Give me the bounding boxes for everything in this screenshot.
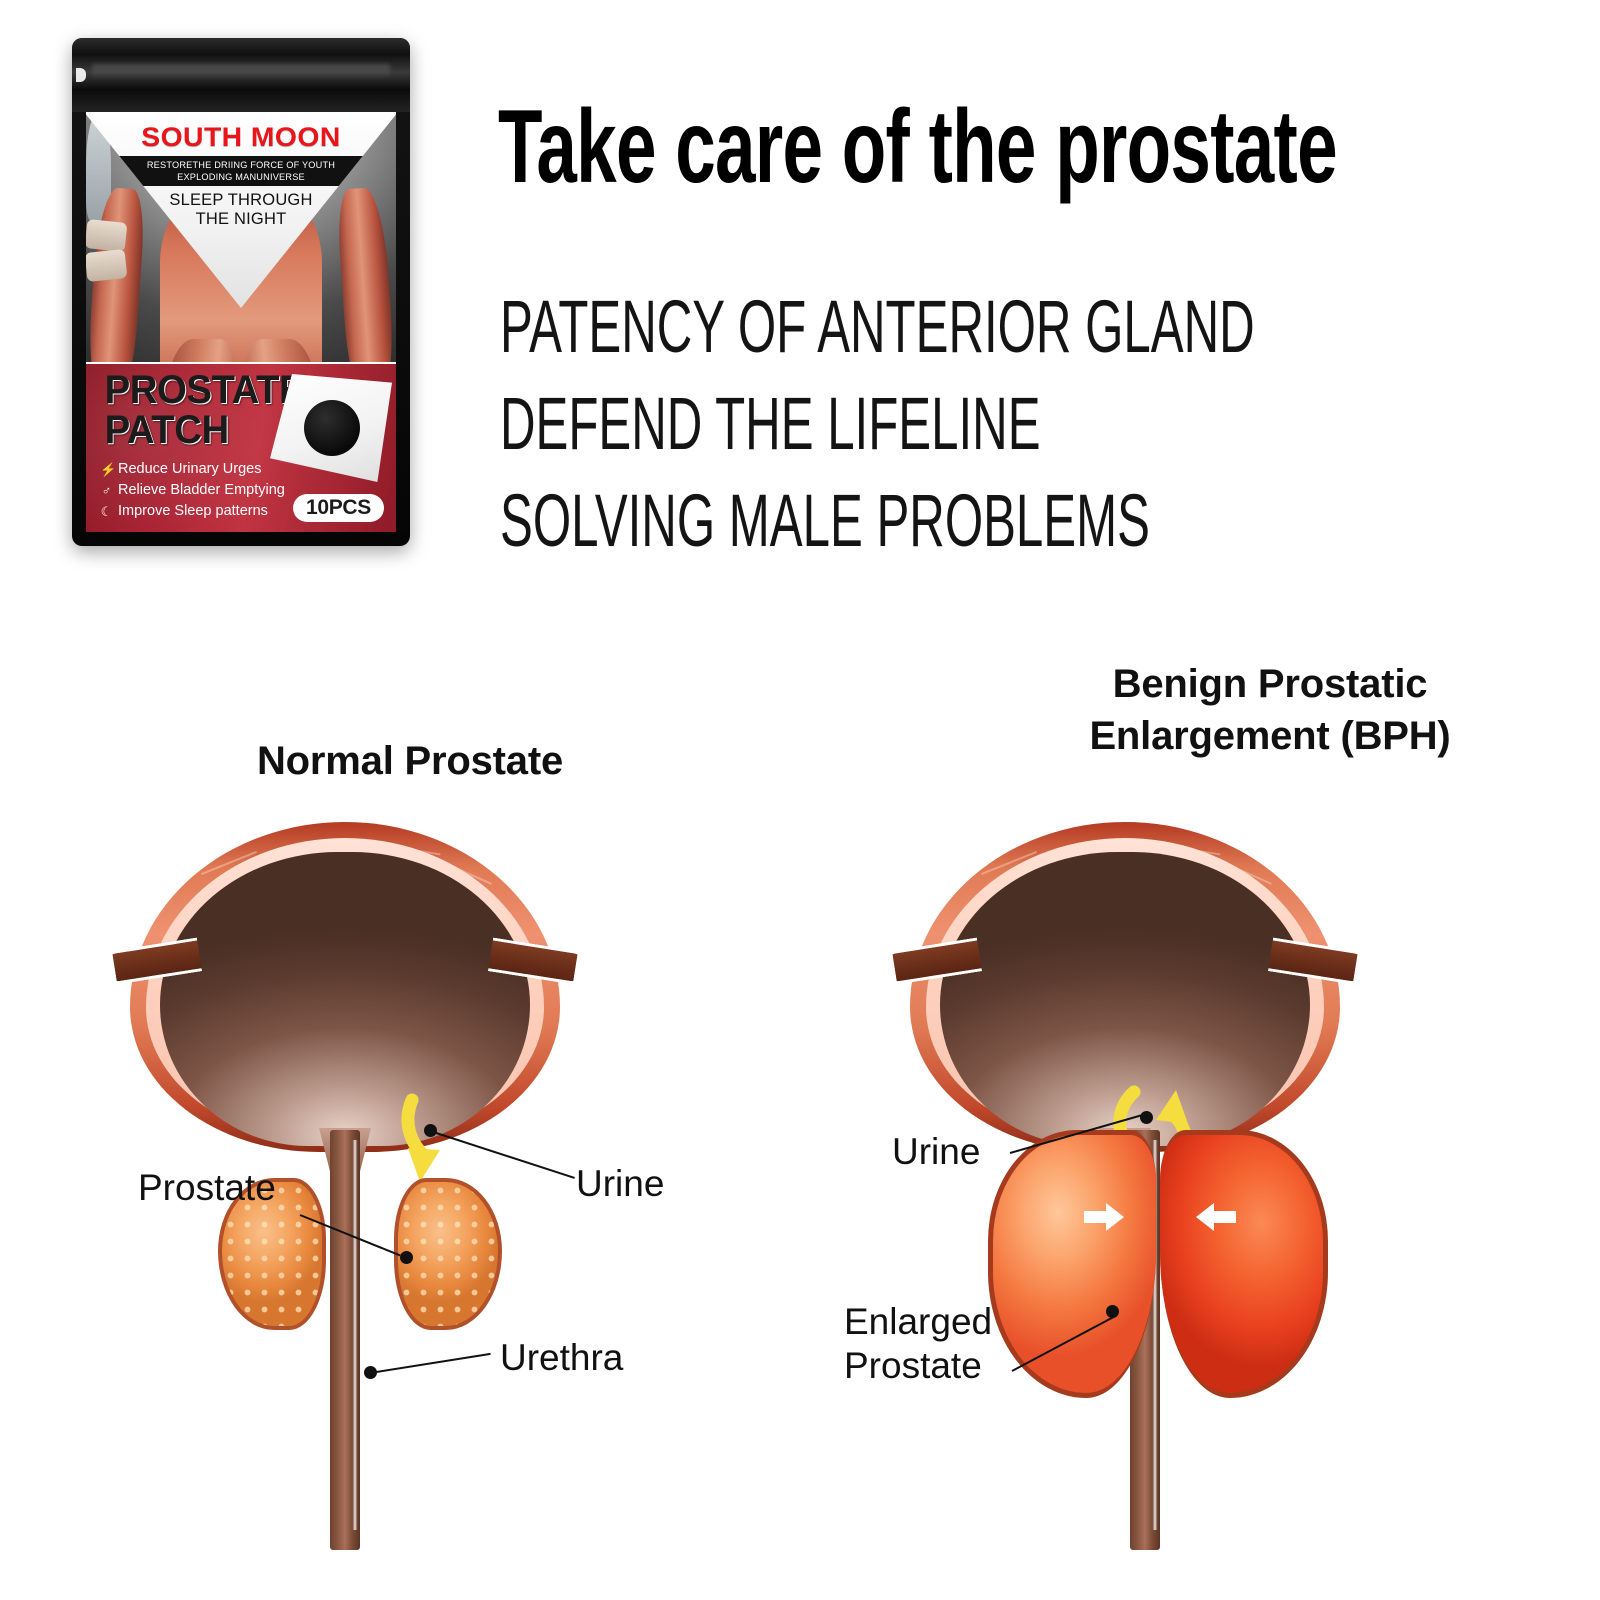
zip-notch — [76, 68, 86, 82]
comparison-diagrams: Normal Prostate — [0, 600, 1600, 1600]
crescent-moon-icon: ☾ — [100, 501, 113, 522]
label-urine: Urine — [576, 1162, 664, 1206]
enlarged-prostate — [988, 1130, 1328, 1398]
benefits-list: ⚡ Reduce Urinary Urges ♂ Relieve Bladder… — [100, 459, 285, 522]
page-title: Take care of the prostate — [498, 95, 1247, 199]
count-badge: 10PCS — [293, 494, 384, 522]
diagram-title-bph-line-2: Enlargement (BPH) — [910, 710, 1600, 762]
leader-dot-urethra — [364, 1366, 377, 1379]
subcopy-line-1: PATENCY OF ANTERIOR GLAND — [500, 278, 1225, 375]
package-bottom-band: PROSTATE PATCH ⚡ Reduce Urinary Urges ♂ … — [86, 362, 396, 532]
package-front-face: SOUTH MOON RESTORETHE DRIING FORCE OF YO… — [86, 112, 396, 532]
patch-adhesive-dot — [304, 400, 360, 456]
bladder-normal — [130, 822, 560, 1152]
diagram-title-bph-line-1: Benign Prostatic — [910, 658, 1600, 710]
tagline-line-2: EXPLODING MANUNIVERSE — [112, 171, 370, 183]
wrist-wrap-right — [86, 249, 128, 282]
hero-section: SOUTH MOON RESTORETHE DRIING FORCE OF YO… — [0, 0, 1600, 600]
subcopy-line-2: DEFEND THE LIFELINE — [500, 375, 1225, 472]
lightning-bolt-icon: ⚡ — [100, 459, 113, 480]
tagline-line-1: RESTORETHE DRIING FORCE OF YOUTH — [112, 159, 370, 171]
bladder-interior — [160, 852, 530, 1146]
compression-arrow-right — [1084, 1202, 1124, 1232]
brand-name: SOUTH MOON — [86, 122, 396, 153]
leader-urethra — [370, 1353, 491, 1374]
label-enlarged-prostate: Enlarged Prostate — [844, 1300, 992, 1388]
benefit-text: Relieve Bladder Emptying — [118, 480, 285, 501]
leader-dot-enlarged-prostate — [1106, 1305, 1119, 1318]
benefit-text: Reduce Urinary Urges — [118, 459, 261, 480]
male-symbol-icon: ♂ — [100, 480, 113, 501]
benefit-item: ♂ Relieve Bladder Emptying — [100, 480, 285, 501]
wrist-wrap-left — [86, 219, 128, 252]
leader-dot-prostate — [400, 1251, 413, 1264]
compression-arrow-left — [1196, 1202, 1236, 1232]
package-zip-seal — [72, 38, 410, 112]
product-package-image: SOUTH MOON RESTORETHE DRIING FORCE OF YO… — [72, 38, 410, 546]
benefit-text: Improve Sleep patterns — [118, 501, 268, 522]
diagram-bph: Benign Prostatic Enlargement (BPH) — [800, 600, 1600, 1600]
diagram-normal-prostate: Normal Prostate — [0, 600, 800, 1600]
benefit-item: ⚡ Reduce Urinary Urges — [100, 459, 285, 480]
benefit-item: ☾ Improve Sleep patterns — [100, 501, 285, 522]
enlarged-prostate-lobe-right — [1160, 1130, 1328, 1398]
label-prostate: Prostate — [138, 1166, 276, 1210]
diagram-title-bph: Benign Prostatic Enlargement (BPH) — [910, 658, 1600, 762]
enlarged-prostate-lobe-left — [988, 1130, 1156, 1398]
subcopy-line-3: SOLVING MALE PROBLEMS — [500, 472, 1225, 569]
leader-dot-urine-bph — [1140, 1111, 1153, 1124]
leader-dot-urine — [424, 1124, 437, 1137]
label-urine-bph: Urine — [892, 1130, 980, 1174]
label-urethra: Urethra — [500, 1336, 623, 1380]
diagram-title-normal: Normal Prostate — [0, 738, 820, 784]
prostate-normal — [280, 1178, 440, 1330]
subcopy-block: PATENCY OF ANTERIOR GLAND DEFEND THE LIF… — [500, 278, 1590, 569]
package-tagline: RESTORETHE DRIING FORCE OF YOUTH EXPLODI… — [110, 156, 372, 186]
